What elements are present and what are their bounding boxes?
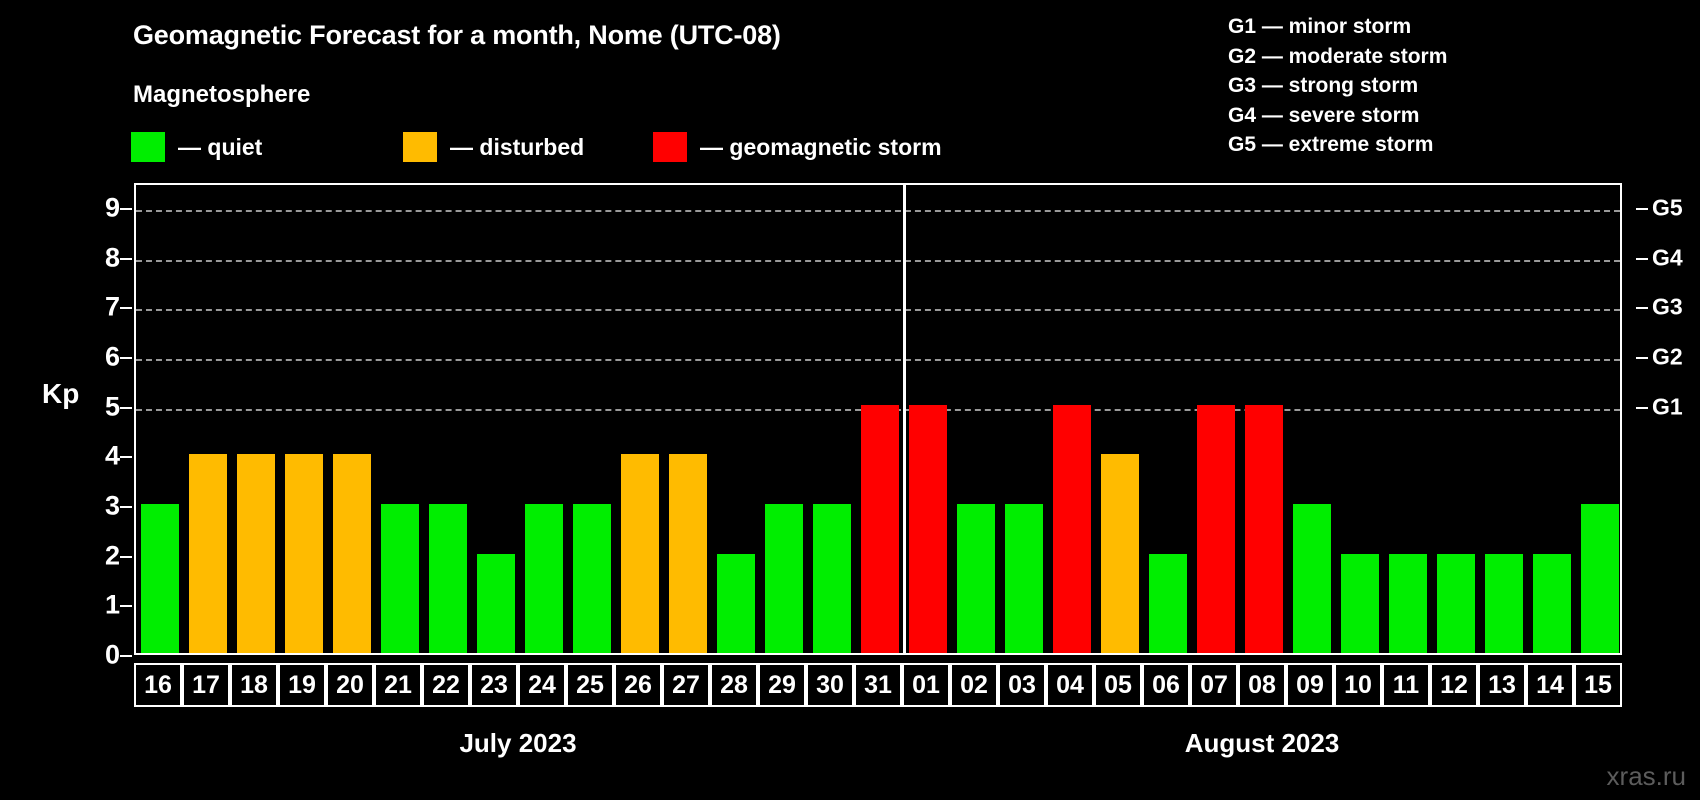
y-tick-mark-9 [120, 208, 132, 210]
day-label-21[interactable]: 21 [374, 663, 422, 707]
bar-07[interactable] [1197, 405, 1235, 653]
g-tick-mark-G3 [1636, 307, 1648, 309]
day-label-07[interactable]: 07 [1190, 663, 1238, 707]
day-label-05[interactable]: 05 [1094, 663, 1142, 707]
bar-08[interactable] [1245, 405, 1283, 653]
legend-entry-disturbed: — disturbed [403, 131, 584, 163]
bar-14[interactable] [1533, 554, 1571, 653]
g-tick-mark-G1 [1636, 407, 1648, 409]
legend-swatch-disturbed [403, 132, 437, 162]
bar-03[interactable] [1005, 504, 1043, 653]
g-legend-line-4: G4 — severe storm [1228, 101, 1447, 131]
bar-21[interactable] [381, 504, 419, 653]
y-axis-left: 9876543210 [70, 183, 120, 655]
g-legend-line-1: G1 — minor storm [1228, 12, 1447, 42]
magnetosphere-label: Magnetosphere [133, 81, 310, 109]
g-tick-G1: G1 [1652, 395, 1683, 418]
page-title: Geomagnetic Forecast for a month, Nome (… [133, 20, 781, 51]
y-tick-1: 1 [105, 592, 120, 619]
day-label-31[interactable]: 31 [854, 663, 902, 707]
y-axis-right-g-scale: G5G4G3G2G1 [1636, 183, 1700, 655]
day-label-24[interactable]: 24 [518, 663, 566, 707]
bar-17[interactable] [189, 454, 227, 653]
bar-24[interactable] [525, 504, 563, 653]
legend-label-storm: — geomagnetic storm [700, 134, 942, 161]
bar-09[interactable] [1293, 504, 1331, 653]
day-label-28[interactable]: 28 [710, 663, 758, 707]
day-label-18[interactable]: 18 [230, 663, 278, 707]
day-label-17[interactable]: 17 [182, 663, 230, 707]
g-legend-line-3: G3 — strong storm [1228, 71, 1447, 101]
y-tick-8: 8 [105, 244, 120, 271]
bar-15[interactable] [1581, 504, 1619, 653]
legend-swatch-quiet [131, 132, 165, 162]
g-legend-line-5: G5 — extreme storm [1228, 130, 1447, 160]
y-tick-2: 2 [105, 542, 120, 569]
day-label-12[interactable]: 12 [1430, 663, 1478, 707]
bar-22[interactable] [429, 504, 467, 653]
g-tick-mark-G4 [1636, 258, 1648, 260]
y-tick-mark-2 [120, 556, 132, 558]
day-label-09[interactable]: 09 [1286, 663, 1334, 707]
y-tick-mark-5 [120, 407, 132, 409]
day-axis: 1617181920212223242526272829303101020304… [134, 663, 1622, 707]
day-label-23[interactable]: 23 [470, 663, 518, 707]
day-label-16[interactable]: 16 [134, 663, 182, 707]
bar-28[interactable] [717, 554, 755, 653]
g-tick-G4: G4 [1652, 246, 1683, 269]
y-tick-mark-4 [120, 456, 132, 458]
bar-13[interactable] [1485, 554, 1523, 653]
g-tick-G5: G5 [1652, 196, 1683, 219]
bar-06[interactable] [1149, 554, 1187, 653]
gridline-kp-6 [136, 359, 1620, 361]
bar-02[interactable] [957, 504, 995, 653]
month-label-2: August 2023 [1185, 728, 1340, 759]
bar-19[interactable] [285, 454, 323, 653]
day-label-26[interactable]: 26 [614, 663, 662, 707]
day-label-11[interactable]: 11 [1382, 663, 1430, 707]
day-label-13[interactable]: 13 [1478, 663, 1526, 707]
y-tick-mark-8 [120, 258, 132, 260]
y-tick-4: 4 [105, 443, 120, 470]
bar-01[interactable] [909, 405, 947, 653]
y-tick-3: 3 [105, 492, 120, 519]
y-tick-5: 5 [105, 393, 120, 420]
day-label-30[interactable]: 30 [806, 663, 854, 707]
plot-area [134, 183, 1622, 655]
day-label-04[interactable]: 04 [1046, 663, 1094, 707]
bar-25[interactable] [573, 504, 611, 653]
day-label-19[interactable]: 19 [278, 663, 326, 707]
plot-inner [136, 185, 1620, 653]
y-tick-0: 0 [105, 642, 120, 669]
day-label-22[interactable]: 22 [422, 663, 470, 707]
g-tick-mark-G5 [1636, 208, 1648, 210]
bar-29[interactable] [765, 504, 803, 653]
month-label-1: July 2023 [459, 728, 576, 759]
day-label-02[interactable]: 02 [950, 663, 998, 707]
gridline-kp-9 [136, 210, 1620, 212]
bar-27[interactable] [669, 454, 707, 653]
y-tick-mark-1 [120, 605, 132, 607]
day-label-27[interactable]: 27 [662, 663, 710, 707]
bar-30[interactable] [813, 504, 851, 653]
g-tick-G2: G2 [1652, 345, 1683, 368]
day-label-06[interactable]: 06 [1142, 663, 1190, 707]
g-tick-G3: G3 [1652, 296, 1683, 319]
bar-16[interactable] [141, 504, 179, 653]
month-divider [903, 185, 906, 653]
day-label-10[interactable]: 10 [1334, 663, 1382, 707]
bar-11[interactable] [1389, 554, 1427, 653]
legend-entry-quiet: — quiet [131, 131, 262, 163]
y-tick-6: 6 [105, 343, 120, 370]
y-tick-mark-0 [120, 655, 132, 657]
g-tick-mark-G2 [1636, 357, 1648, 359]
day-label-20[interactable]: 20 [326, 663, 374, 707]
y-tick-mark-7 [120, 307, 132, 309]
bar-05[interactable] [1101, 454, 1139, 653]
bar-26[interactable] [621, 454, 659, 653]
day-label-25[interactable]: 25 [566, 663, 614, 707]
bar-23[interactable] [477, 554, 515, 653]
day-label-15[interactable]: 15 [1574, 663, 1622, 707]
day-label-29[interactable]: 29 [758, 663, 806, 707]
legend-entry-storm: — geomagnetic storm [653, 131, 942, 163]
y-tick-9: 9 [105, 194, 120, 221]
gridline-kp-8 [136, 260, 1620, 262]
bar-12[interactable] [1437, 554, 1475, 653]
day-label-03[interactable]: 03 [998, 663, 1046, 707]
y-tick-mark-3 [120, 506, 132, 508]
y-tick-7: 7 [105, 294, 120, 321]
legend-label-disturbed: — disturbed [450, 134, 584, 161]
watermark: xras.ru [1607, 761, 1686, 792]
bar-31[interactable] [861, 405, 899, 653]
day-label-08[interactable]: 08 [1238, 663, 1286, 707]
g-scale-legend: G1 — minor stormG2 — moderate stormG3 — … [1228, 12, 1447, 160]
y-tick-mark-6 [120, 357, 132, 359]
legend-swatch-storm [653, 132, 687, 162]
gridline-kp-7 [136, 309, 1620, 311]
bar-20[interactable] [333, 454, 371, 653]
bar-04[interactable] [1053, 405, 1091, 653]
g-legend-line-2: G2 — moderate storm [1228, 42, 1447, 72]
day-label-14[interactable]: 14 [1526, 663, 1574, 707]
day-label-01[interactable]: 01 [902, 663, 950, 707]
legend-label-quiet: — quiet [178, 134, 262, 161]
bar-10[interactable] [1341, 554, 1379, 653]
bar-18[interactable] [237, 454, 275, 653]
